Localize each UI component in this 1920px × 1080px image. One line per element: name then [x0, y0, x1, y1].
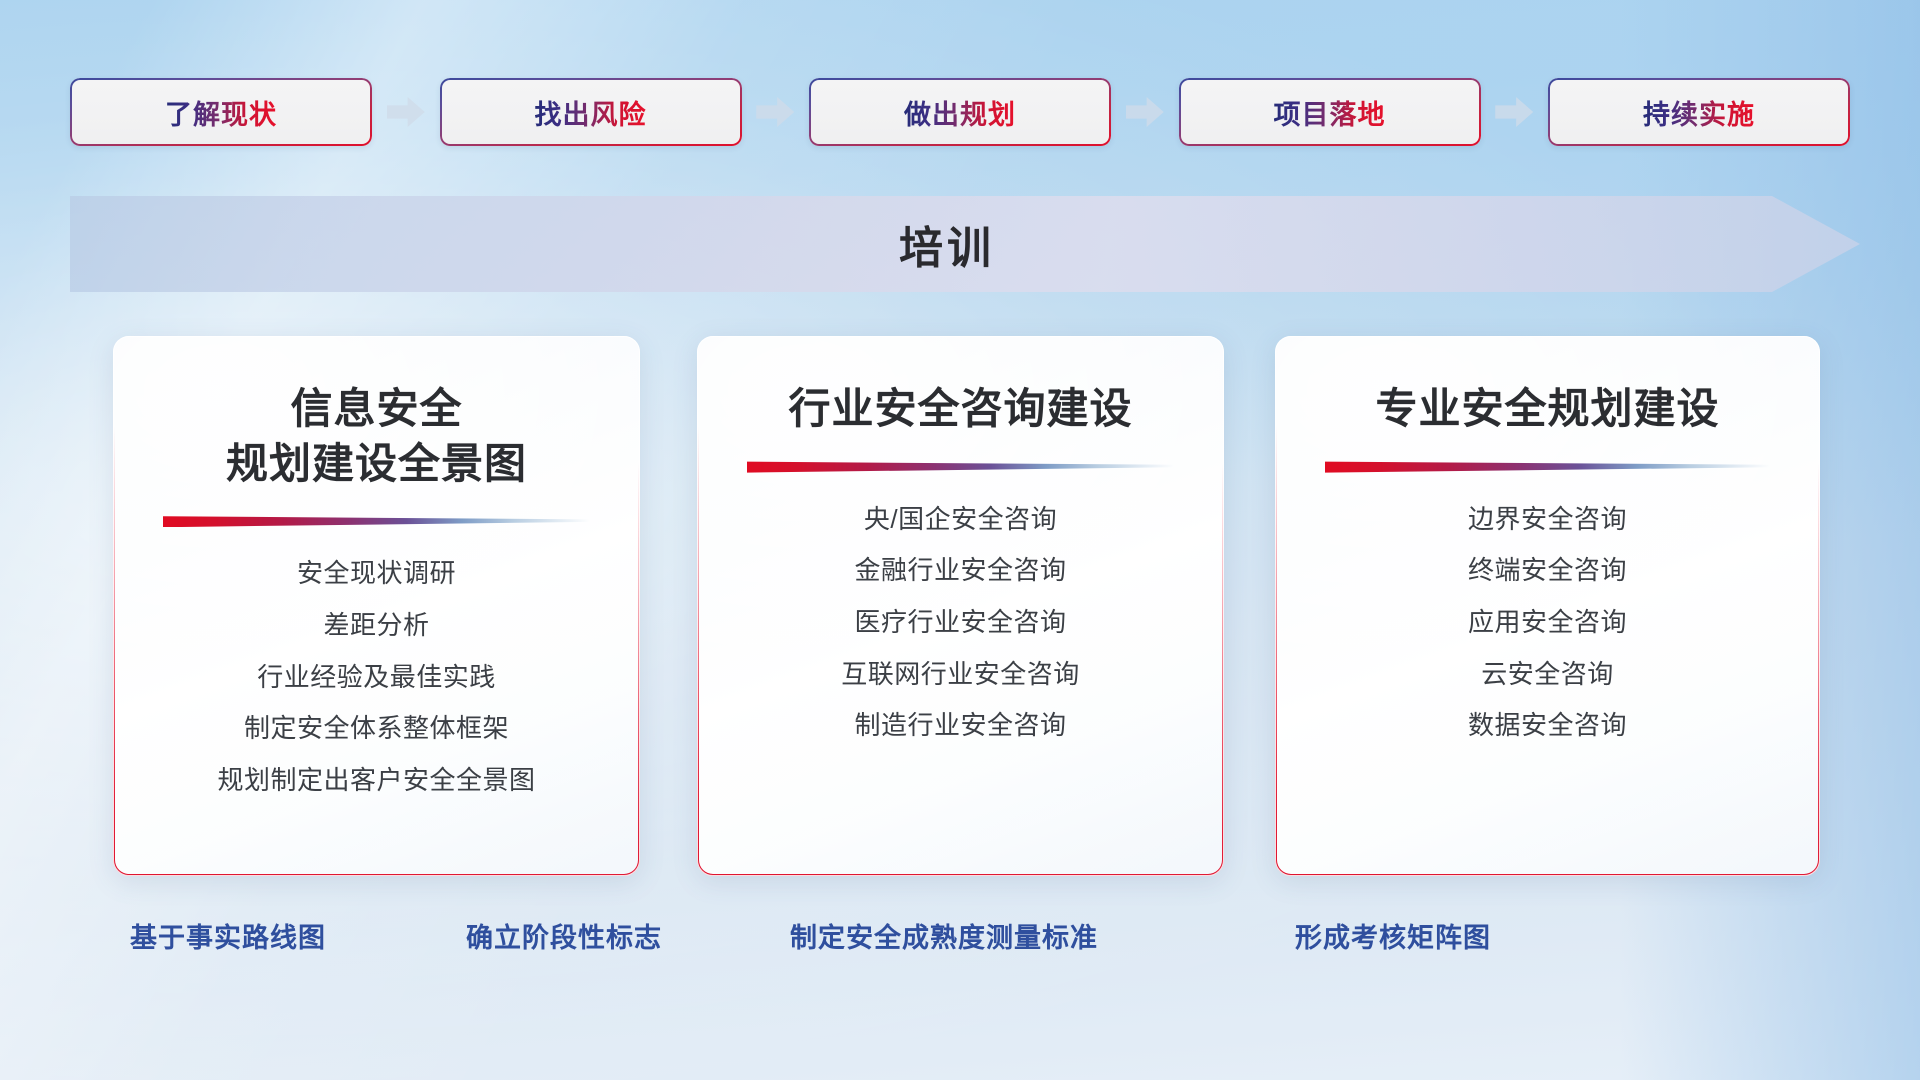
card-item-list: 安全现状调研 差距分析 行业经验及最佳实践 制定安全体系整体框架 规划制定出客户… — [141, 555, 612, 799]
card-title: 信息安全 规划建设全景图 — [226, 382, 527, 491]
step-box-1[interactable]: 了解现状 — [70, 78, 372, 146]
list-item: 央/国企安全咨询 — [864, 501, 1057, 539]
slide-canvas: 了解现状 找出风险 做出规划 项目落地 持续实施 培训 信息安全 规划建设全景图 — [0, 0, 1920, 1080]
list-item: 应用安全咨询 — [1468, 604, 1627, 642]
card-divider — [163, 513, 590, 527]
process-step-flow: 了解现状 找出风险 做出规划 项目落地 持续实施 — [70, 78, 1850, 146]
card-divider — [1325, 459, 1770, 473]
list-item: 安全现状调研 — [297, 555, 456, 593]
card-item-list: 边界安全咨询 终端安全咨询 应用安全咨询 云安全咨询 数据安全咨询 — [1303, 501, 1792, 745]
card-title: 行业安全咨询建设 — [788, 382, 1132, 437]
list-item: 数据安全咨询 — [1468, 707, 1627, 745]
card-item-list: 央/国企安全咨询 金融行业安全咨询 医疗行业安全咨询 互联网行业安全咨询 制造行… — [725, 501, 1196, 745]
arrow-right-icon — [1126, 97, 1164, 127]
list-item: 边界安全咨询 — [1468, 501, 1627, 539]
list-item: 云安全咨询 — [1481, 656, 1614, 694]
step-label-2: 找出风险 — [535, 93, 647, 132]
list-item: 终端安全咨询 — [1468, 552, 1627, 590]
card-professional-security-planning[interactable]: 专业安全规划建设 边界安全咨询 终端安全咨询 应用安全咨询 云安全咨询 数据安全… — [1275, 336, 1820, 876]
step-box-5[interactable]: 持续实施 — [1548, 78, 1850, 146]
arrow-right-icon — [756, 97, 794, 127]
banner-title: 培训 — [899, 212, 995, 276]
list-item: 行业经验及最佳实践 — [257, 659, 496, 697]
arrow-right-icon — [387, 97, 425, 127]
training-banner: 培训 — [70, 196, 1860, 292]
card-content: 信息安全 规划建设全景图 安全现状调研 差距分析 行业经验及最佳实践 制定安全体… — [113, 336, 640, 876]
step-label-1: 了解现状 — [165, 93, 277, 132]
footer-label-1: 基于事实路线图 — [130, 916, 326, 955]
step-label-3: 做出规划 — [904, 93, 1016, 132]
list-item: 规划制定出客户安全全景图 — [217, 762, 535, 800]
arrow-right-icon — [1495, 97, 1533, 127]
footer-label-row: 基于事实路线图 确立阶段性标志 制定安全成熟度测量标准 形成考核矩阵图 — [0, 916, 1920, 964]
step-label-4: 项目落地 — [1274, 93, 1386, 132]
step-box-4[interactable]: 项目落地 — [1179, 78, 1481, 146]
list-item: 差距分析 — [323, 607, 429, 645]
card-divider — [747, 459, 1174, 473]
card-title: 专业安全规划建设 — [1375, 382, 1719, 437]
footer-label-2: 确立阶段性标志 — [466, 916, 662, 955]
card-group: 信息安全 规划建设全景图 安全现状调研 差距分析 行业经验及最佳实践 制定安全体… — [0, 336, 1920, 876]
card-content: 行业安全咨询建设 央/国企安全咨询 金融行业安全咨询 医疗行业安全咨询 互联网行… — [697, 336, 1224, 876]
step-label-5: 持续实施 — [1643, 93, 1755, 132]
footer-label-4: 形成考核矩阵图 — [1295, 916, 1491, 955]
card-industry-security-consulting[interactable]: 行业安全咨询建设 央/国企安全咨询 金融行业安全咨询 医疗行业安全咨询 互联网行… — [697, 336, 1224, 876]
list-item: 制造行业安全咨询 — [854, 707, 1066, 745]
list-item: 金融行业安全咨询 — [854, 552, 1066, 590]
list-item: 互联网行业安全咨询 — [841, 656, 1080, 694]
step-box-2[interactable]: 找出风险 — [440, 78, 742, 146]
card-content: 专业安全规划建设 边界安全咨询 终端安全咨询 应用安全咨询 云安全咨询 数据安全… — [1275, 336, 1820, 876]
card-info-security-panorama[interactable]: 信息安全 规划建设全景图 安全现状调研 差距分析 行业经验及最佳实践 制定安全体… — [113, 336, 640, 876]
list-item: 制定安全体系整体框架 — [244, 710, 509, 748]
footer-label-3: 制定安全成熟度测量标准 — [790, 916, 1098, 955]
list-item: 医疗行业安全咨询 — [854, 604, 1066, 642]
step-box-3[interactable]: 做出规划 — [809, 78, 1111, 146]
